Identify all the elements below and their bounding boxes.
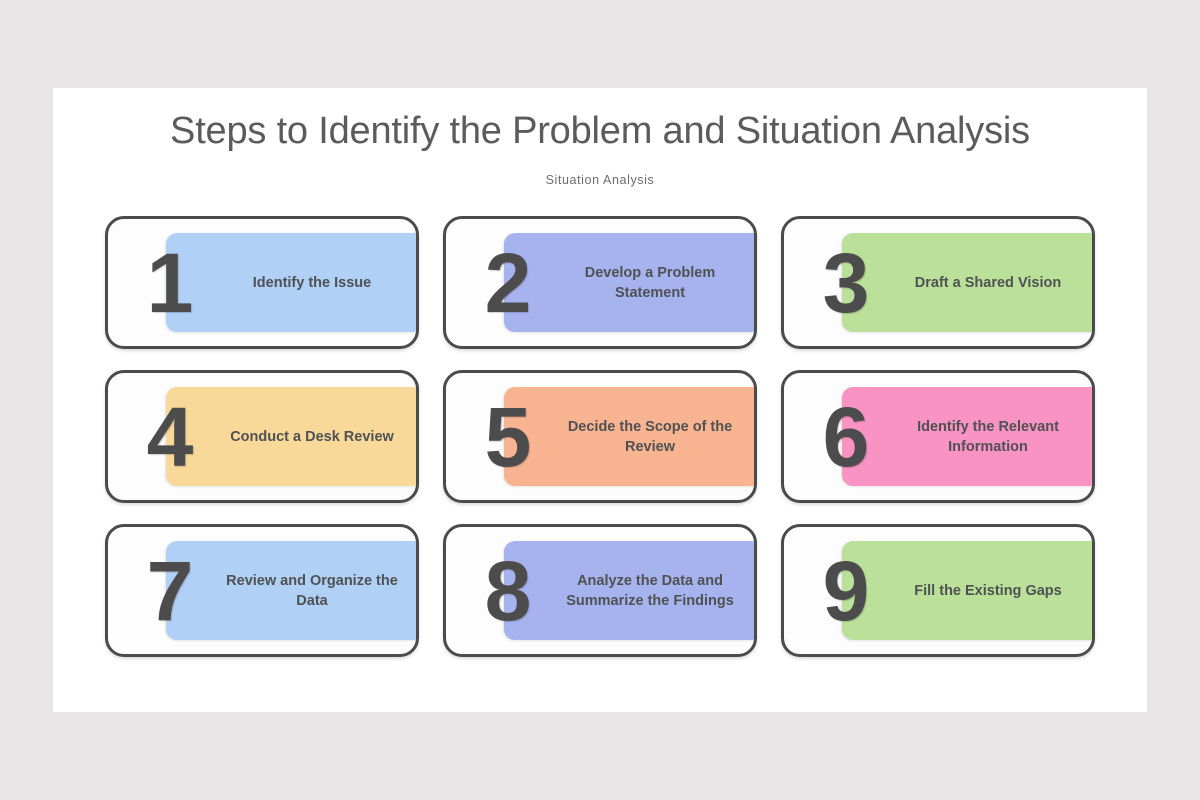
step-number-7: 7	[138, 549, 200, 633]
step-number-5: 5	[476, 395, 538, 479]
step-label-2: Develop a Problem Statement	[504, 263, 754, 303]
step-panel-3: Draft a Shared Vision	[842, 233, 1092, 332]
step-card-3[interactable]: Draft a Shared Vision 3	[781, 216, 1095, 349]
step-label-3: Draft a Shared Vision	[842, 273, 1092, 293]
page-subtitle: Situation Analysis	[53, 173, 1147, 187]
step-card-6[interactable]: Identify the Relevant Information 6	[781, 370, 1095, 503]
step-panel-1: Identify the Issue	[166, 233, 416, 332]
step-number-4: 4	[138, 395, 200, 479]
step-panel-8: Analyze the Data and Summarize the Findi…	[504, 541, 754, 640]
step-number-1: 1	[138, 241, 200, 325]
page-title: Steps to Identify the Problem and Situat…	[53, 110, 1147, 153]
step-panel-7: Review and Organize the Data	[166, 541, 416, 640]
step-card-1[interactable]: Identify the Issue 1	[105, 216, 419, 349]
step-label-4: Conduct a Desk Review	[166, 427, 416, 447]
step-label-1: Identify the Issue	[166, 273, 416, 293]
step-panel-9: Fill the Existing Gaps	[842, 541, 1092, 640]
slide-canvas: Steps to Identify the Problem and Situat…	[53, 88, 1147, 712]
step-card-5[interactable]: Decide the Scope of the Review 5	[443, 370, 757, 503]
step-panel-4: Conduct a Desk Review	[166, 387, 416, 486]
step-panel-6: Identify the Relevant Information	[842, 387, 1092, 486]
step-card-4[interactable]: Conduct a Desk Review 4	[105, 370, 419, 503]
step-label-8: Analyze the Data and Summarize the Findi…	[504, 571, 754, 611]
step-number-9: 9	[814, 549, 876, 633]
step-panel-5: Decide the Scope of the Review	[504, 387, 754, 486]
step-label-6: Identify the Relevant Information	[842, 417, 1092, 457]
step-card-9[interactable]: Fill the Existing Gaps 9	[781, 524, 1095, 657]
step-number-8: 8	[476, 549, 538, 633]
step-card-8[interactable]: Analyze the Data and Summarize the Findi…	[443, 524, 757, 657]
step-number-6: 6	[814, 395, 876, 479]
step-label-9: Fill the Existing Gaps	[842, 581, 1092, 601]
step-card-7[interactable]: Review and Organize the Data 7	[105, 524, 419, 657]
step-number-3: 3	[814, 241, 876, 325]
steps-grid: Identify the Issue 1 Develop a Problem S…	[105, 216, 1095, 657]
step-number-2: 2	[476, 241, 538, 325]
step-label-5: Decide the Scope of the Review	[504, 417, 754, 457]
step-panel-2: Develop a Problem Statement	[504, 233, 754, 332]
step-card-2[interactable]: Develop a Problem Statement 2	[443, 216, 757, 349]
step-label-7: Review and Organize the Data	[166, 571, 416, 611]
